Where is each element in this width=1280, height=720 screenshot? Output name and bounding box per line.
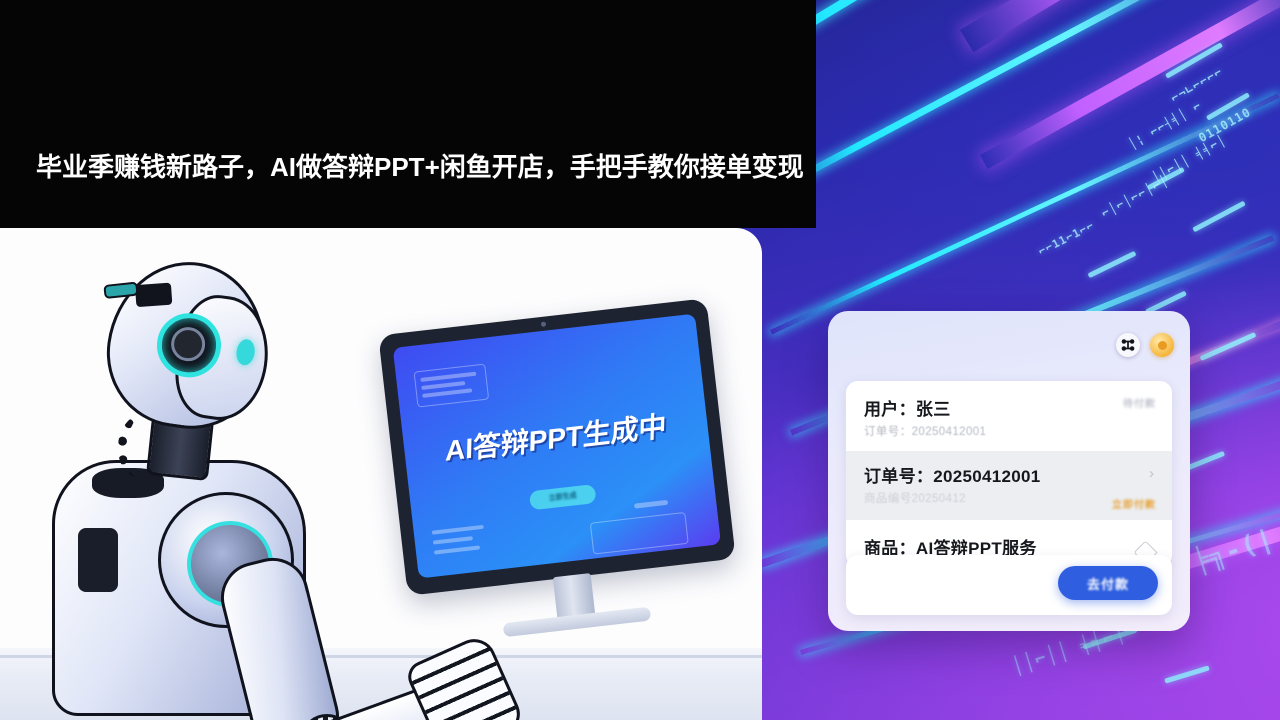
robot-head: [97, 252, 277, 438]
order-row-user-label: 用户：: [864, 400, 916, 419]
widget-icon[interactable]: [1116, 333, 1140, 357]
order-row-number-action[interactable]: 立即付款: [1112, 496, 1156, 511]
avatar-icon[interactable]: [1150, 333, 1174, 357]
pay-button[interactable]: 去付款: [1058, 566, 1158, 600]
order-row-number-label: 订单号：: [864, 467, 933, 486]
robot-head-slot: [135, 283, 172, 307]
binary-glyph: ││⌐││ ╡╡⌐│: [1010, 623, 1129, 678]
binary-glyph: │¦ ⌐⌐┤╡│ ⌐: [1126, 98, 1204, 151]
chevron-right-icon[interactable]: ›: [1149, 465, 1154, 482]
order-row-number-value: 20250412001: [933, 467, 1040, 486]
order-row-user[interactable]: 用户：张三 订单号：20250412001 待付款: [846, 381, 1172, 439]
card-icon-group: [1116, 333, 1174, 357]
monitor: AI答辩PPT生成中 立即生成: [378, 298, 736, 596]
binary-glyph: ╞╗-(|: [1189, 524, 1277, 578]
order-row-user-status: 待付款: [1123, 395, 1156, 410]
monitor-generate-button[interactable]: 立即生成: [529, 484, 597, 510]
monitor-generate-button-label: 立即生成: [548, 490, 577, 503]
promo-banner: ⌐¬∟⌐⌐⌐⌐ │¦ ⌐⌐┤╡│ ⌐ ││⌐││ ╡╡⌐│ 0110110 ⌐│…: [0, 0, 1280, 720]
order-row-user-text: 用户：张三: [864, 395, 1154, 420]
page-subtitle: 毕业季赚钱新路子，AI做答辩PPT+闲鱼开店，手把手教你接单变现: [36, 150, 1106, 184]
illustration-panel: AI答辩PPT生成中 立即生成: [0, 228, 762, 720]
title-band: [0, 0, 816, 228]
order-row-number-sub: 商品编号20250412: [864, 490, 1154, 506]
order-row-user-sub: 订单号：20250412001: [864, 423, 1154, 439]
monitor-screen: AI答辩PPT生成中 立即生成: [393, 314, 721, 579]
order-row-number[interactable]: 订单号：20250412001 商品编号20250412 › 立即付款: [846, 451, 1172, 520]
order-card-footer: 去付款: [846, 555, 1172, 615]
robot-vent: [78, 528, 118, 592]
order-row-number-text: 订单号：20250412001: [864, 462, 1154, 487]
order-detail-sheet: 用户：张三 订单号：20250412001 待付款 订单号：2025041200…: [846, 381, 1172, 567]
binary-glyph: ⌐⌐11⌐1⌐⌐: [1036, 219, 1096, 258]
monitor-status-text: AI答辩PPT生成中: [445, 404, 667, 470]
order-card[interactable]: 用户：张三 订单号：20250412001 待付款 订单号：2025041200…: [828, 311, 1190, 631]
order-row-user-value: 张三: [916, 400, 951, 419]
robot-antenna: [103, 282, 138, 299]
pay-button-label: 去付款: [1087, 574, 1129, 593]
binary-glyph: ⌐│⌐│⌐⌐│⌐│: [1099, 173, 1171, 220]
